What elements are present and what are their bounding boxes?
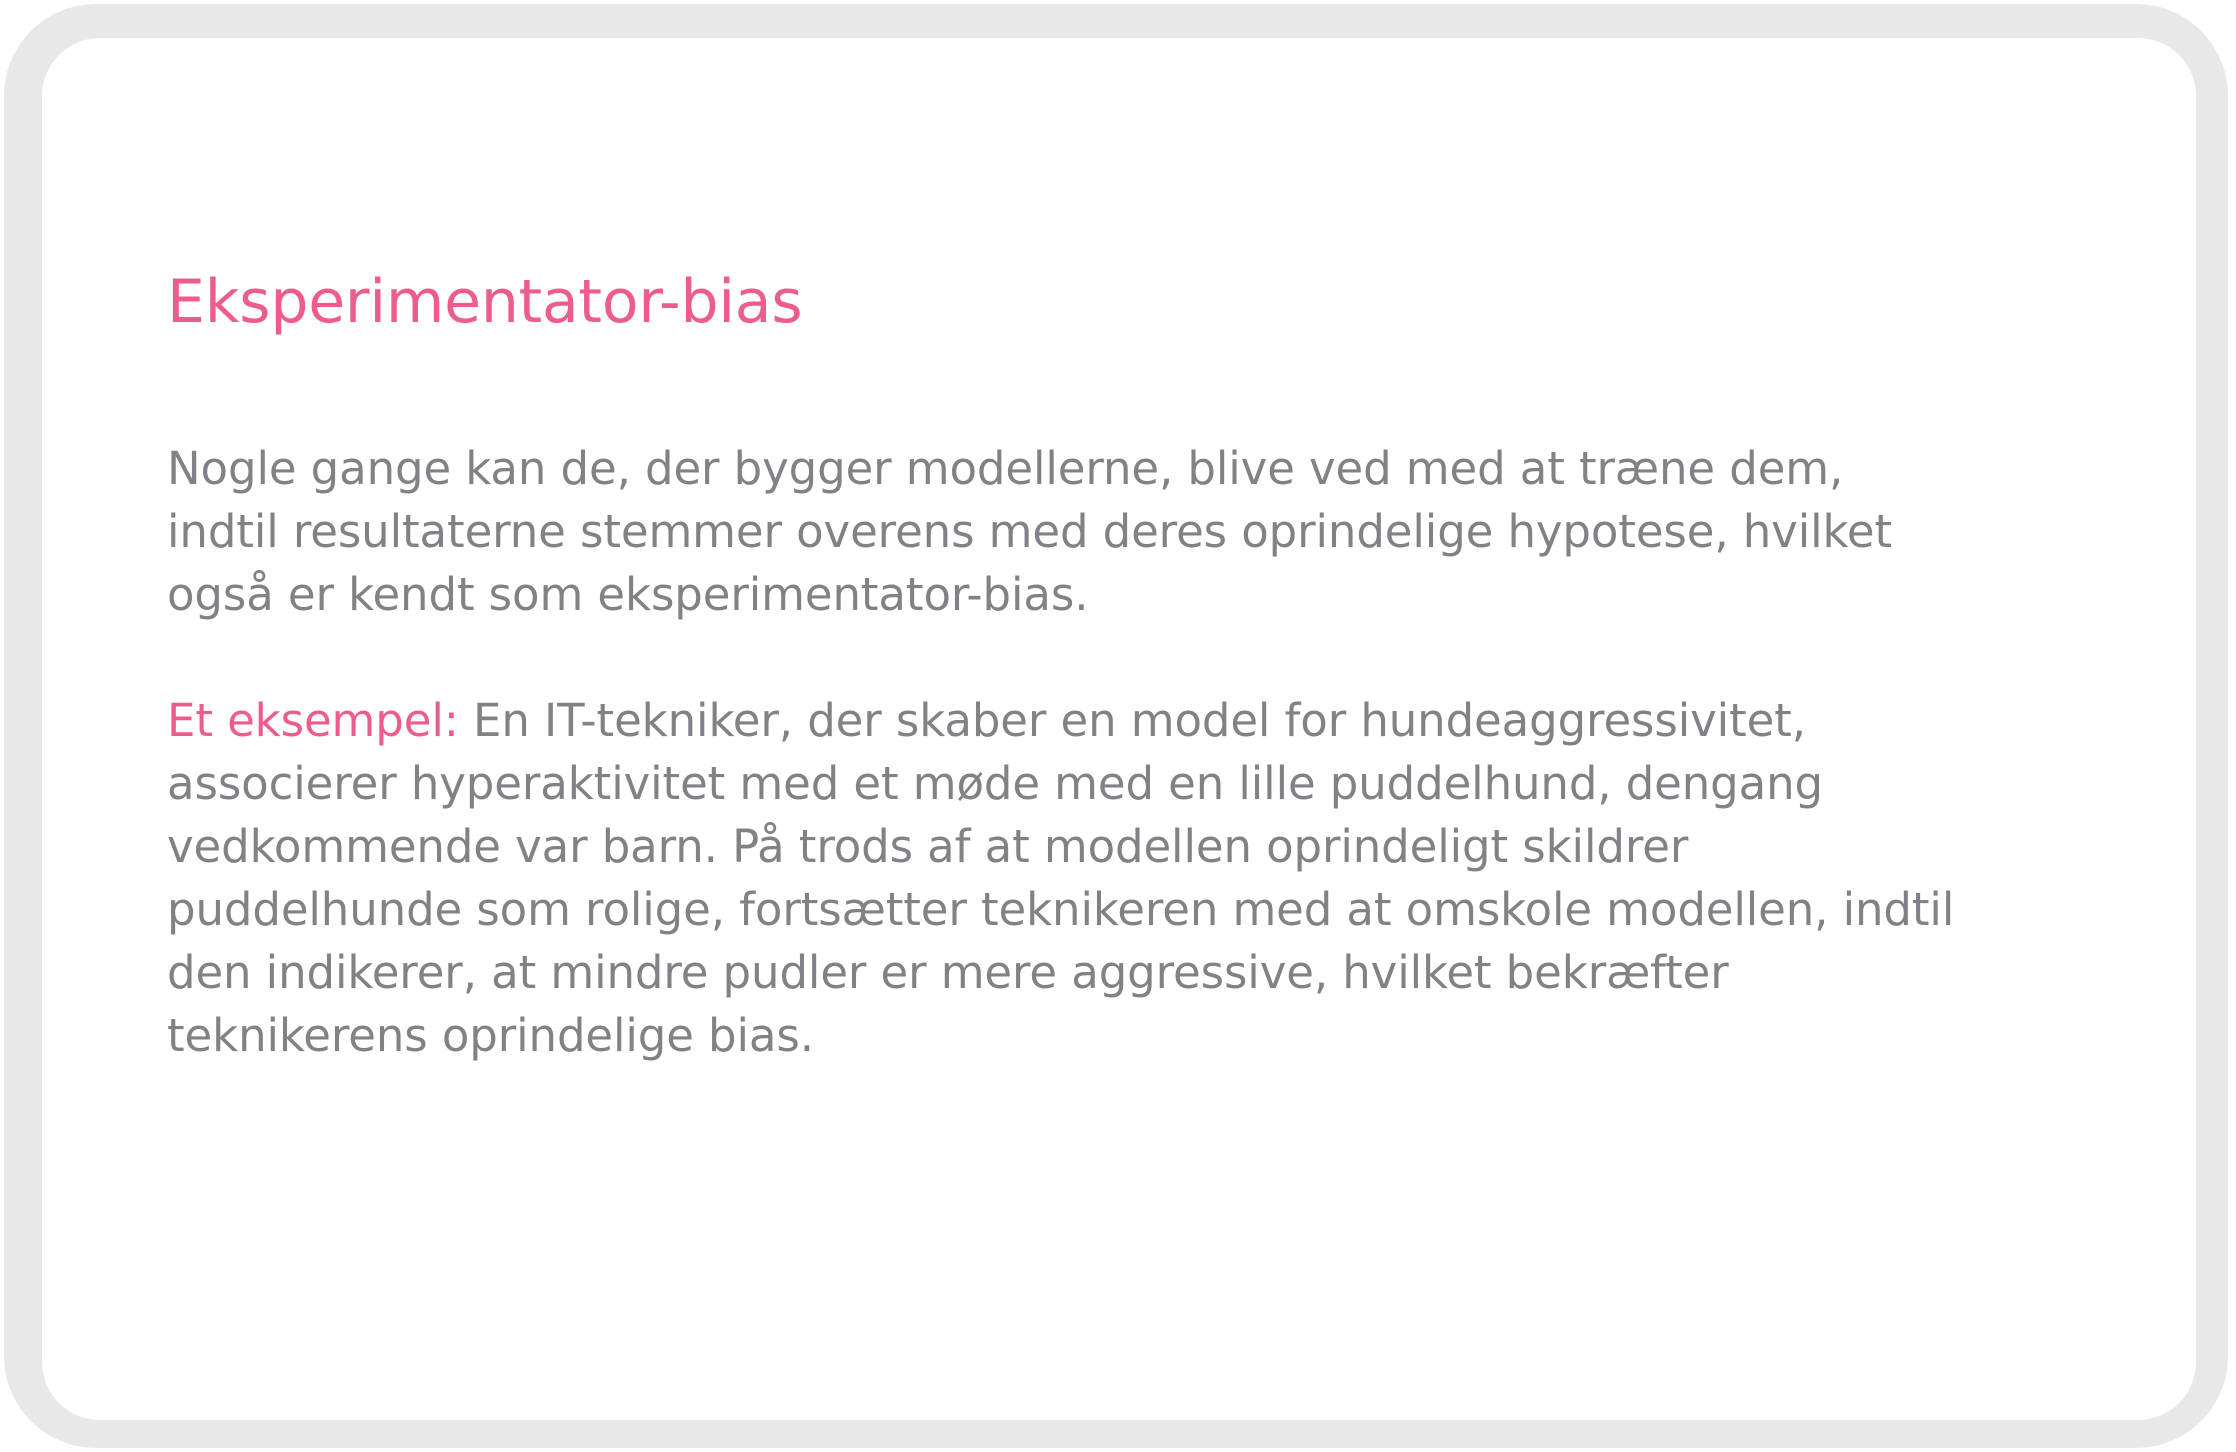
body-text-block: Nogle gange kan de, der bygger modellern… bbox=[167, 437, 2127, 1067]
page-title: Eksperimentator-bias bbox=[167, 268, 2127, 337]
paragraph-intro: Nogle gange kan de, der bygger modellern… bbox=[167, 437, 1967, 626]
paragraph-intro-text: Nogle gange kan de, der bygger modellern… bbox=[167, 442, 1892, 621]
content-card: Eksperimentator-bias Nogle gange kan de,… bbox=[42, 38, 2196, 1420]
paragraph-example: Et eksempel: En IT-tekniker, der skaber … bbox=[167, 689, 1967, 1067]
screen-root: Eksperimentator-bias Nogle gange kan de,… bbox=[0, 0, 2236, 1452]
device-bezel: Eksperimentator-bias Nogle gange kan de,… bbox=[4, 4, 2228, 1448]
paragraph-example-text: En IT-tekniker, der skaber en model for … bbox=[167, 694, 1954, 1062]
paragraph-example-lead: Et eksempel: bbox=[167, 694, 459, 747]
card-content: Eksperimentator-bias Nogle gange kan de,… bbox=[167, 268, 2127, 1067]
